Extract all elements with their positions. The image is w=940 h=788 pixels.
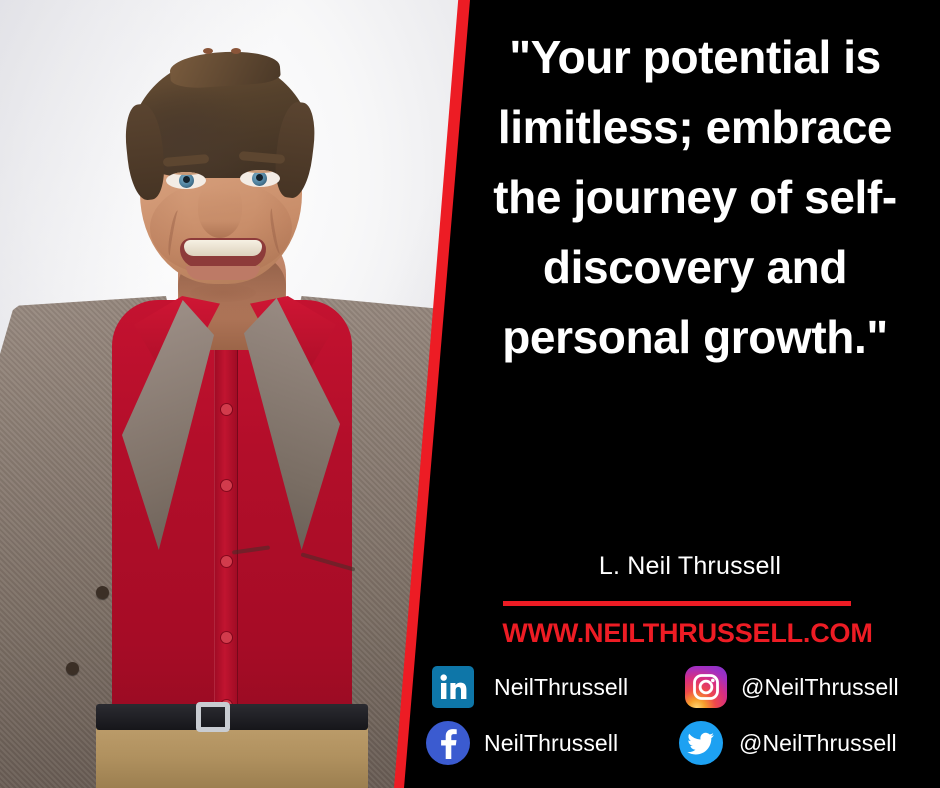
- quote-graphic-canvas: "Your potential is limitless; embrace th…: [0, 0, 940, 788]
- linkedin-icon[interactable]: [432, 666, 474, 708]
- shirt-button: [221, 632, 232, 643]
- website-url[interactable]: WWW.NEILTHRUSSELL.COM: [460, 618, 915, 649]
- social-link-twitter[interactable]: @NeilThrussell: [679, 721, 897, 765]
- social-links: NeilThrussell @NeilThrussell: [426, 664, 926, 780]
- social-handle-instagram: @NeilThrussell: [741, 674, 899, 701]
- pupil: [183, 176, 190, 183]
- social-link-facebook[interactable]: NeilThrussell: [426, 721, 618, 765]
- portrait-subject: [0, 0, 470, 788]
- quote-text: "Your potential is limitless; embrace th…: [470, 22, 920, 372]
- social-handle-facebook: NeilThrussell: [484, 730, 618, 757]
- social-handle-twitter: @NeilThrussell: [739, 730, 897, 757]
- twitter-icon[interactable]: [679, 721, 723, 765]
- social-handle-linkedin: NeilThrussell: [494, 674, 628, 701]
- divider-rule: [503, 601, 851, 606]
- lower-lip: [186, 266, 260, 280]
- teeth: [184, 240, 262, 256]
- shirt-button: [221, 404, 232, 415]
- nostril-right: [231, 48, 241, 54]
- jacket-button: [96, 586, 109, 599]
- eye-left: [166, 172, 206, 189]
- instagram-icon[interactable]: [685, 666, 727, 708]
- belt-buckle: [196, 702, 230, 732]
- eyelid: [240, 170, 280, 173]
- author-name: L. Neil Thrussell: [470, 552, 910, 581]
- facebook-icon[interactable]: [426, 721, 470, 765]
- shirt-button: [221, 480, 232, 491]
- jacket-button: [66, 662, 79, 675]
- mouth: [180, 238, 266, 268]
- social-link-linkedin[interactable]: NeilThrussell: [432, 666, 628, 708]
- nostril-left: [203, 48, 213, 54]
- portrait-photo: [0, 0, 470, 788]
- pupil: [256, 174, 263, 181]
- shirt-button: [221, 556, 232, 567]
- eye-right: [240, 170, 280, 187]
- nose: [198, 182, 242, 238]
- belt: [96, 704, 368, 730]
- social-link-instagram[interactable]: @NeilThrussell: [685, 666, 899, 708]
- eyelid: [166, 172, 206, 175]
- chin-shadow: [190, 284, 256, 302]
